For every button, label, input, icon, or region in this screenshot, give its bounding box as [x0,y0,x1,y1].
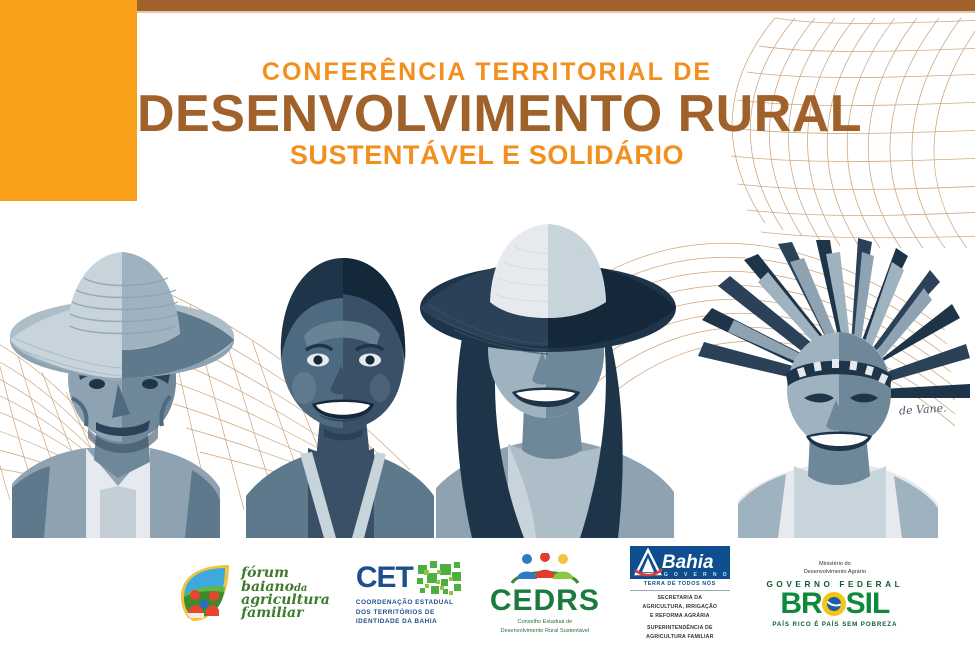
ministry-line-2: Desenvolvimento Agrário [804,568,866,576]
figure-woman-wide-brim-hat [412,220,712,538]
brasil-wordmark-prefix: BR [780,589,821,619]
top-brown-bar [137,0,975,11]
logo-cet: CET [356,561,464,628]
cet-acronym: CET [356,563,413,593]
logo-cedrs: CEDRS Conselho Estadual de Desenvolvimen… [490,553,600,635]
title-line-1: CONFERÊNCIA TERRITORIAL DE [137,60,837,85]
bahia-secretaria-line-1: SECRETARIA DA [643,594,718,603]
cedrs-subtitle: Conselho Estadual de Desenvolvimento Rur… [501,618,590,635]
cet-blocks-icon [416,561,464,595]
bahia-secretaria-line-3: E REFORMA AGRÁRIA [643,612,718,621]
bahia-secretaria-block: SECRETARIA DA AGRICULTURA, IRRIGAÇÃO E R… [643,594,718,621]
cet-subtitle-line-1: COORDENAÇÃO ESTADUAL [356,598,454,608]
forum-baiano-line-4: familiar [241,607,330,620]
cedrs-subtitle-line-1: Conselho Estadual de [501,618,590,626]
cet-subtitle-line-3: IDENTIDADE DA BAHIA [356,617,454,627]
brasil-wordmark: BR SIL [780,589,889,619]
brasil-globe-icon [821,591,847,617]
bahia-superintendencia-line-1: SUPERINTENDÊNCIA DE [646,624,713,633]
bahia-wordmark: Bahia [662,553,714,572]
figure-elderly-man-straw-hat [0,238,255,538]
photo-band: de Vane. [0,205,975,538]
logo-bahia-governo: Bahia G O V E R N O TERRA DE TODOS NÓS S… [626,546,734,642]
cet-subtitle: COORDENAÇÃO ESTADUAL DOS TERRITÓRIOS DE … [356,598,454,628]
orange-corner-block [0,0,137,201]
poster-canvas: CONFERÊNCIA TERRITORIAL DE DESENVOLVIMEN… [0,0,975,650]
brasil-tagline: PAÍS RICO É PAÍS SEM POBREZA [772,621,897,628]
logo-bar: fórum baianoda agricultura familiar CET [0,538,975,650]
brasil-wordmark-suffix: SIL [846,589,890,619]
poster-title: CONFERÊNCIA TERRITORIAL DE DESENVOLVIMEN… [137,60,837,169]
figure-indigenous-man-headdress [694,238,975,538]
forum-baiano-wordmark: fórum baianoda agricultura familiar [241,567,330,620]
bahia-triangle-icon [633,548,663,578]
bahia-superintendencia-block: SUPERINTENDÊNCIA DE AGRICULTURA FAMILIAR [646,624,713,642]
ministry-label: Ministério do Desenvolvimento Agrário [804,560,866,577]
bahia-governo-label: G O V E R N O [664,572,729,578]
bahia-secretaria-line-2: AGRICULTURA, IRRIGAÇÃO [643,603,718,612]
cedrs-people-icon [508,553,582,585]
bahia-tagline: TERRA DE TODOS NÓS [644,581,716,587]
ministry-line-1: Ministério do [804,560,866,568]
logo-forum-baiano: fórum baianoda agricultura familiar [175,563,330,625]
forum-baiano-icon [175,563,235,625]
title-line-2: DESENVOLVIMENTO RURAL [137,88,837,140]
cet-subtitle-line-2: DOS TERRITÓRIOS DE [356,608,454,618]
bahia-divider [630,590,730,591]
bahia-superintendencia-line-2: AGRICULTURA FAMILIAR [646,633,713,642]
top-brown-bar-underline [137,11,975,13]
title-line-3: SUSTENTÁVEL E SOLIDÁRIO [137,142,837,169]
cedrs-subtitle-line-2: Desenvolvimento Rural Sustentável [501,627,590,635]
cedrs-acronym: CEDRS [490,586,600,616]
bahia-brandmark: Bahia G O V E R N O [630,546,730,579]
logo-governo-federal: Ministério do Desenvolvimento Agrário GO… [760,560,910,629]
